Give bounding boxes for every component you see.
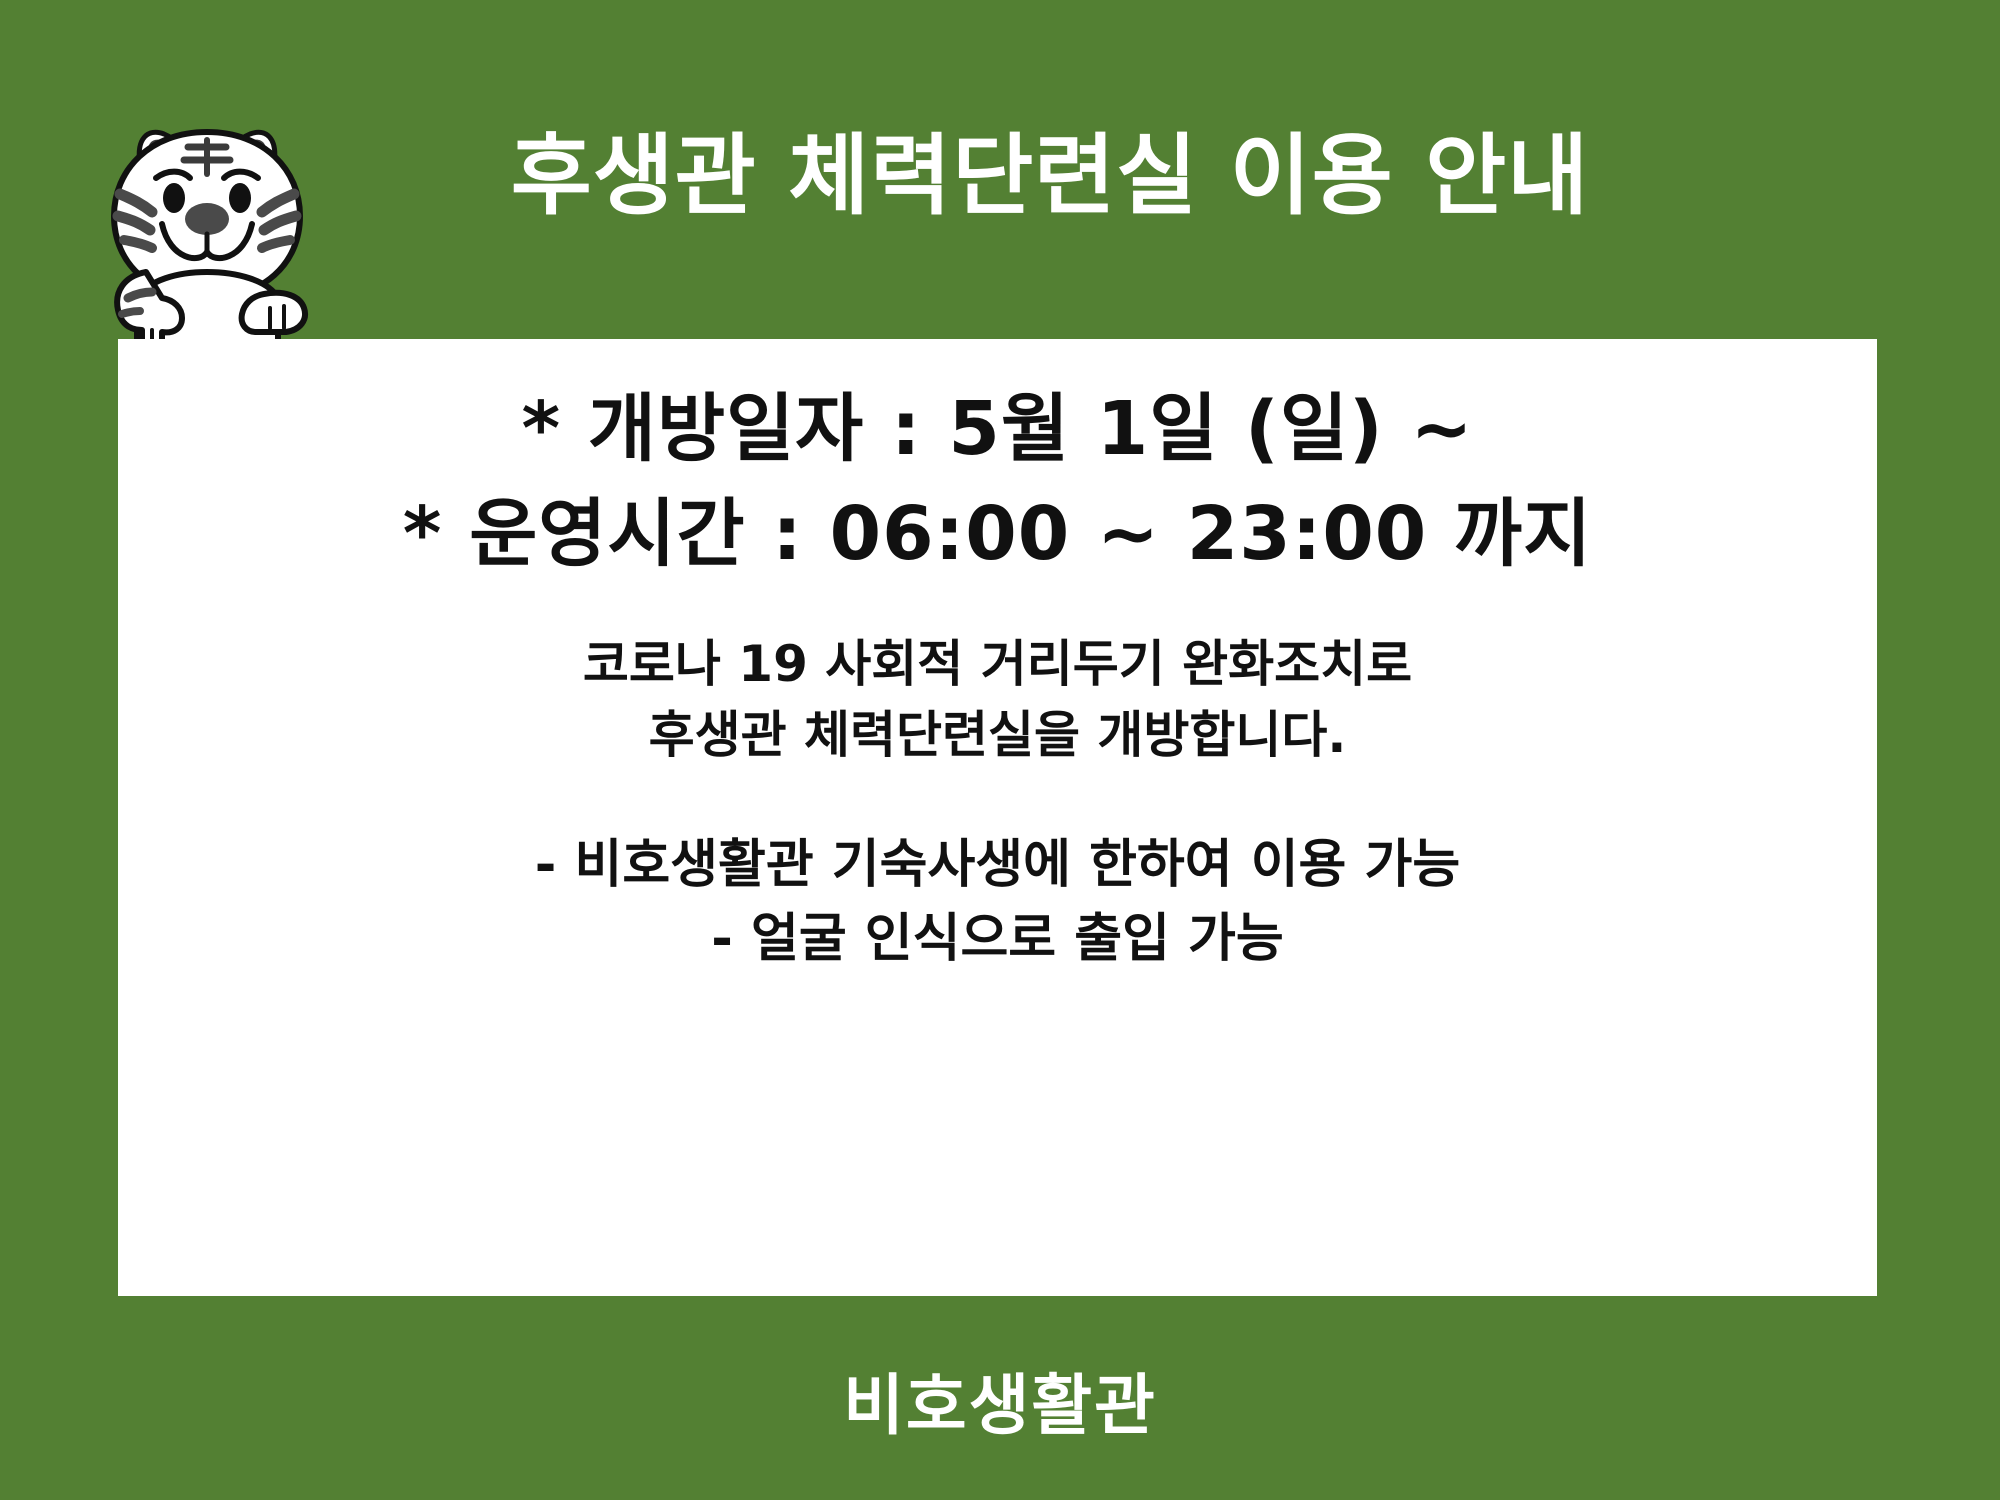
notice-headline-open-date: * 개방일자 : 5월 1일 (일) ~ bbox=[521, 377, 1473, 482]
notice-paragraph-line-1: 코로나 19 사회적 거리두기 완화조치로 bbox=[583, 629, 1412, 700]
footer-organization: 비호생활관 bbox=[0, 1352, 2000, 1448]
notice-headline-hours: * 운영시간 : 06:00 ~ 23:00 까지 bbox=[403, 482, 1592, 587]
notice-bullet-face-recognition: - 얼굴 인식으로 출입 가능 bbox=[711, 903, 1283, 977]
page-title: 후생관 체력단련실 이용 안내 bbox=[400, 128, 1700, 223]
notice-card: * 개방일자 : 5월 1일 (일) ~ * 운영시간 : 06:00 ~ 23… bbox=[118, 339, 1877, 1296]
tiger-mascot-icon bbox=[78, 112, 348, 377]
poster-root: 후생관 체력단련실 이용 안내 * 개방일자 : 5월 1일 (일) ~ * 운… bbox=[0, 0, 2000, 1500]
notice-paragraph-line-2: 후생관 체력단련실을 개방합니다. bbox=[649, 700, 1347, 771]
notice-bullet-residents-only: - 비호생활관 기숙사생에 한하여 이용 가능 bbox=[535, 829, 1460, 903]
